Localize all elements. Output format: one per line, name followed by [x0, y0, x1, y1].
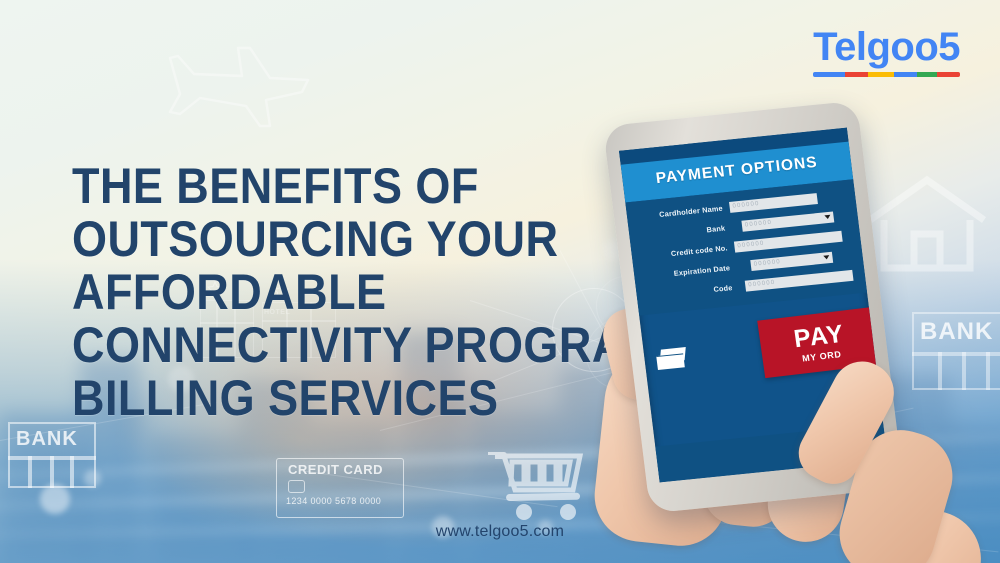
- field-label: Expiration Date: [646, 263, 738, 281]
- chevron-down-icon[interactable]: [823, 255, 829, 260]
- logo-bar-2: [868, 72, 894, 77]
- logo-bar-3: [894, 72, 917, 77]
- credit-card-number: 1234 0000 5678 0000: [286, 496, 381, 506]
- shopping-cart-icon: [486, 448, 590, 520]
- logo-wordmark: Telgoo5: [813, 24, 960, 70]
- field-value: 000000: [744, 218, 772, 232]
- field-value: 000000: [732, 199, 760, 213]
- field-label: Cardholder Name: [639, 203, 731, 221]
- page-title: THE BENEFITS OF OUTSOURCING YOUR AFFORDA…: [72, 160, 612, 425]
- field-input[interactable]: 000000: [729, 193, 818, 213]
- field-label: Bank: [641, 223, 733, 241]
- logo-bar-5: [937, 72, 960, 77]
- headline-line-1: THE BENEFITS OF: [72, 160, 612, 213]
- logo-bar-4: [917, 72, 937, 77]
- logo-bar-0: [813, 72, 845, 77]
- field-input[interactable]: 000000: [734, 231, 843, 253]
- field-label: Code: [648, 282, 740, 300]
- credit-cards-icon: [656, 347, 688, 370]
- bokeh-dot: [40, 484, 70, 514]
- marketing-banner: BANK BANK CREDIT CARD 1234 0000 5678 000…: [0, 0, 1000, 563]
- headline-line-2: OUTSOURCING YOUR: [72, 213, 612, 266]
- field-value: 000000: [737, 239, 765, 253]
- brand-logo[interactable]: Telgoo5: [813, 24, 960, 77]
- logo-bar-1: [845, 72, 868, 77]
- field-input[interactable]: 000000: [741, 212, 834, 232]
- airplane-outline-icon: [150, 34, 315, 134]
- field-label: Credit code No.: [643, 243, 735, 261]
- field-input[interactable]: 000000: [745, 270, 854, 292]
- phone-in-hand-illustration: PAYMENT OPTIONS Cardholder Name000000Ban…: [610, 112, 910, 542]
- headline-line-4: CONNECTIVITY PROGRAM: [72, 319, 612, 372]
- pay-button-label: PAY: [792, 321, 845, 352]
- headline-line-3: AFFORDABLE: [72, 266, 612, 319]
- field-input[interactable]: 000000: [750, 252, 833, 271]
- headline-line-5: BILLING SERVICES: [72, 372, 612, 425]
- chevron-down-icon[interactable]: [824, 215, 830, 220]
- field-value: 000000: [753, 257, 781, 271]
- bank-right-label: BANK: [920, 318, 993, 346]
- logo-underline-bars: [813, 72, 960, 77]
- field-value: 000000: [748, 278, 776, 292]
